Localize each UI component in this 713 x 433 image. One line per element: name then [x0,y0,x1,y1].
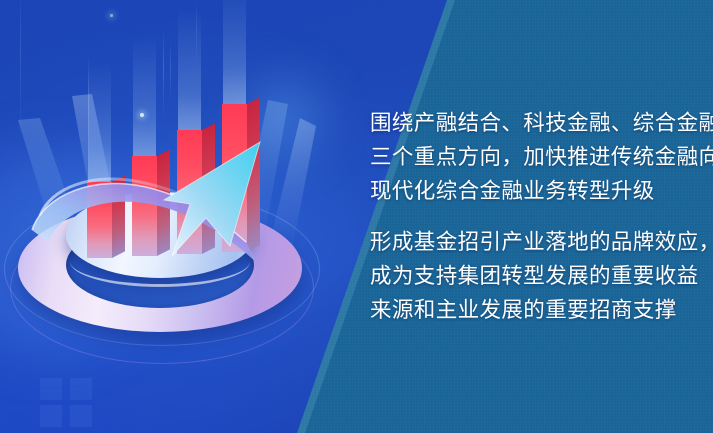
paragraph-1: 围绕产融结合、科技金融、综合金融 三个重点方向，加快推进传统金融向 现代化综合金… [370,106,680,208]
paragraph-2-line-3: 来源和主业发展的重要招商支撑 [370,293,680,327]
paragraph-1-line-3: 现代化综合金融业务转型升级 [370,174,680,208]
banner-canvas: 围绕产融结合、科技金融、综合金融 三个重点方向，加快推进传统金融向 现代化综合金… [0,0,713,433]
rising-arrow-icon [14,96,314,356]
illustration-3d-chart [14,96,314,356]
paragraph-1-line-1: 围绕产融结合、科技金融、综合金融 [370,106,680,140]
paragraph-1-line-2: 三个重点方向，加快推进传统金融向 [370,140,680,174]
bar-light-beam [223,0,246,104]
paragraph-2: 形成基金招引产业落地的品牌效应， 成为支持集团转型发展的重要收益 来源和主业发展… [370,225,680,327]
text-column: 围绕产融结合、科技金融、综合金融 三个重点方向，加快推进传统金融向 现代化综合金… [370,106,680,327]
paragraph-2-line-1: 形成基金招引产业落地的品牌效应， [370,225,680,259]
paragraph-2-line-2: 成为支持集团转型发展的重要收益 [370,259,680,293]
platform-rim-highlight [70,236,250,287]
